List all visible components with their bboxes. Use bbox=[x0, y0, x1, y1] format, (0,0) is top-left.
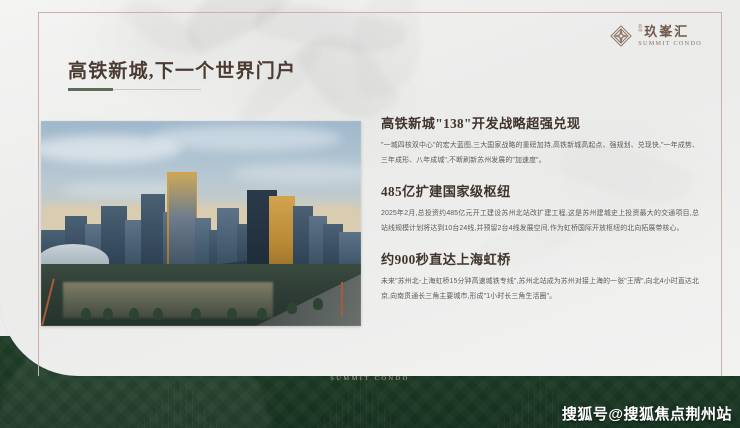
brand-prefix-cn: 苏州 bbox=[638, 24, 642, 36]
brand-wordmark: 苏州 玖峯汇 SUMMIT CONDO bbox=[638, 24, 702, 47]
content-card: 苏州 玖峯汇 SUMMIT CONDO 高铁新城,下一个世界门户 bbox=[0, 0, 740, 376]
brand-name-en: SUMMIT CONDO bbox=[638, 40, 702, 47]
footer-pattern-fan bbox=[300, 376, 420, 428]
brand-logo: 苏州 玖峯汇 SUMMIT CONDO bbox=[610, 24, 702, 47]
feature-sections: 高铁新城"138"开发战略超强兑现 "一城四核双中心"的宏大蓝图,三大国家战略的… bbox=[381, 113, 699, 317]
title-divider-accent bbox=[68, 88, 113, 91]
feature-section: 约900秒直达上海虹桥 未来"苏州北-上海虹桥15分钟高速城铁专线",苏州北站成… bbox=[381, 249, 699, 304]
section-body: "一城四核双中心"的宏大蓝图,三大国家战略的重磅加持,高铁新城高起点、强规划、兑… bbox=[381, 139, 699, 168]
section-body: 2025年2月,总投资约485亿元开工建设苏州北站改扩建工程,这是苏州建城史上投… bbox=[381, 207, 699, 236]
title-divider bbox=[68, 88, 201, 91]
city-skyline-photo bbox=[41, 121, 361, 326]
footer-brand-en: SUMMIT CONDO bbox=[330, 375, 409, 382]
section-body: 未来"苏州北-上海虹桥15分钟高速城铁专线",苏州北站成为苏州对接上海的一张"王… bbox=[381, 275, 699, 304]
section-heading: 约900秒直达上海虹桥 bbox=[381, 249, 699, 268]
photo-inner-border bbox=[41, 121, 361, 326]
brand-name-cn-row: 苏州 玖峯汇 bbox=[638, 24, 689, 38]
brand-name-cn: 玖峯汇 bbox=[644, 25, 689, 38]
feature-section: 485亿扩建国家级枢纽 2025年2月,总投资约485亿元开工建设苏州北站改扩建… bbox=[381, 181, 699, 236]
sohu-watermark: 搜狐号@搜狐焦点荆州站 bbox=[562, 403, 732, 424]
footer-pattern-fan bbox=[120, 376, 240, 428]
page-title: 高铁新城,下一个世界门户 bbox=[68, 56, 296, 83]
feature-section: 高铁新城"138"开发战略超强兑现 "一城四核双中心"的宏大蓝图,三大国家战略的… bbox=[381, 113, 699, 168]
section-heading: 485亿扩建国家级枢纽 bbox=[381, 181, 699, 200]
diamond-star-emblem-icon bbox=[610, 25, 632, 47]
title-divider-tail bbox=[113, 89, 201, 90]
brochure-page: 1.本宣传资料内容为广告宣传要约邀请,不作为合同内容,双方权利义务以最终签订的商… bbox=[0, 0, 740, 428]
section-heading: 高铁新城"138"开发战略超强兑现 bbox=[381, 113, 699, 132]
